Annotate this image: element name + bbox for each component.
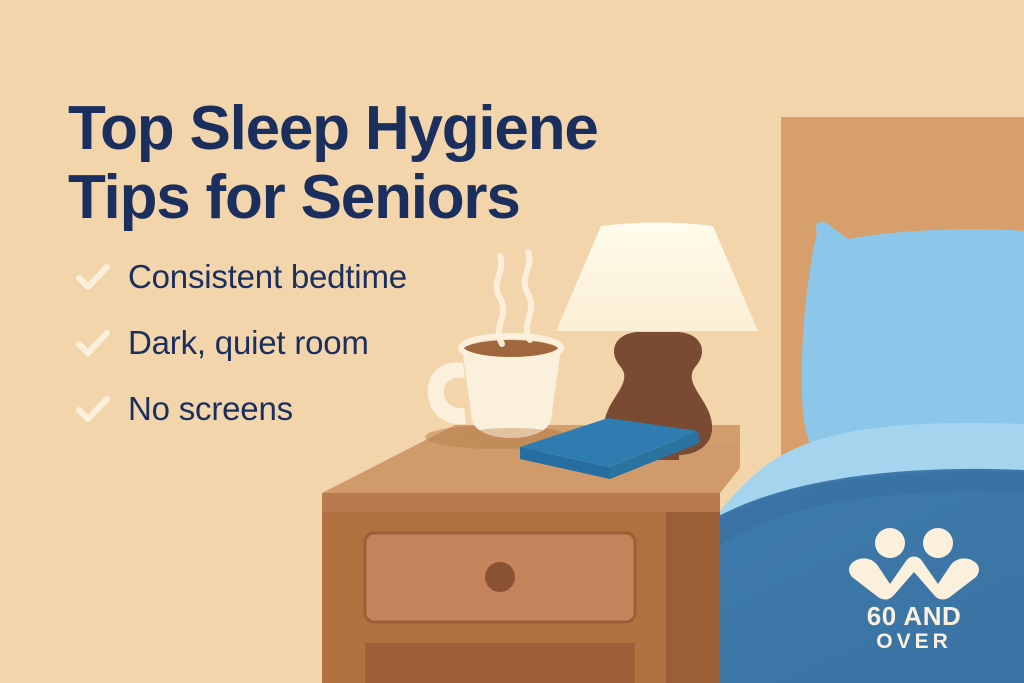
nightstand-top-edge [322, 493, 720, 512]
drawer-knob [485, 562, 515, 592]
poster-canvas: Top Sleep Hygiene Tips for Seniors Consi… [0, 0, 1024, 683]
bedroom-illustration [0, 0, 1024, 683]
nightstand-lower-panel [365, 643, 635, 683]
nightstand-side [666, 505, 720, 683]
